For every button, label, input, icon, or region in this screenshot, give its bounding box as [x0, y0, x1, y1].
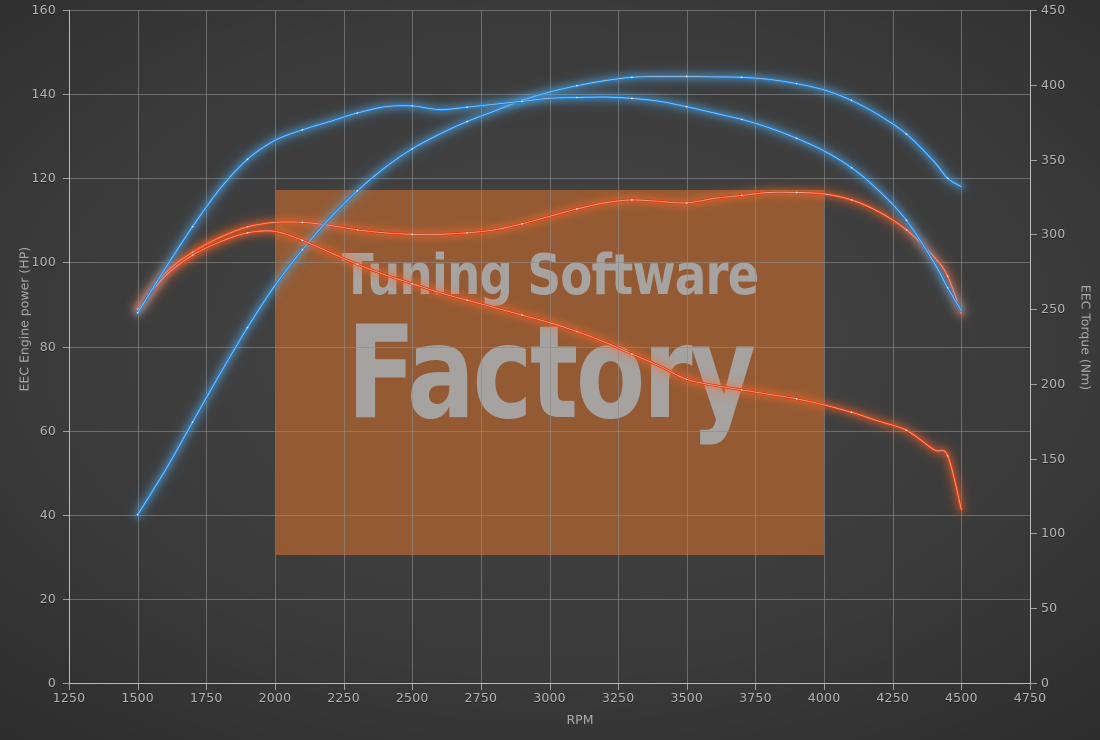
data-point-marker: [466, 121, 468, 123]
data-point-marker: [521, 223, 523, 225]
data-point-marker: [576, 97, 578, 99]
curve-glow-inner-tuned-torque-nm: [138, 192, 962, 313]
data-point-marker: [796, 398, 798, 400]
data-point-marker: [741, 118, 743, 120]
data-point-marker: [137, 312, 139, 314]
data-point-marker: [411, 105, 413, 107]
data-point-marker: [741, 76, 743, 78]
data-point-marker: [686, 202, 688, 204]
dyno-chart-page: Tuning Software Factory 0204060801001201…: [0, 0, 1100, 740]
data-point-marker: [301, 239, 303, 241]
data-point-marker: [796, 137, 798, 139]
curve-highlight-stock-power-hp: [138, 97, 962, 313]
data-point-marker: [741, 195, 743, 197]
curve-tuned-torque-nm: [138, 192, 962, 313]
data-point-marker: [192, 421, 194, 423]
curve-highlight-stock-torque-nm: [138, 231, 962, 510]
curve-layer: [0, 0, 1100, 740]
data-point-marker: [411, 283, 413, 285]
data-point-marker: [851, 100, 853, 102]
data-point-marker: [466, 232, 468, 234]
curve-glow-inner-stock-power-hp: [138, 97, 962, 313]
data-point-marker: [521, 100, 523, 102]
data-point-marker: [411, 148, 413, 150]
data-point-marker: [631, 353, 633, 355]
data-point-marker: [356, 190, 358, 192]
data-point-marker: [796, 192, 798, 194]
data-point-marker: [631, 199, 633, 201]
data-point-marker: [851, 167, 853, 169]
data-point-marker: [631, 97, 633, 99]
data-point-marker: [466, 299, 468, 301]
data-point-marker: [137, 514, 139, 516]
data-point-marker: [356, 229, 358, 231]
data-point-marker: [356, 263, 358, 265]
data-point-marker: [247, 327, 249, 329]
curve-glow-outer-tuned-torque-nm: [138, 192, 962, 313]
data-point-marker: [411, 233, 413, 235]
data-point-marker: [947, 177, 949, 179]
curve-glow-outer-stock-torque-nm: [138, 231, 962, 510]
data-point-marker: [947, 287, 949, 289]
data-point-marker: [301, 129, 303, 131]
data-point-marker: [851, 411, 853, 413]
curve-glow-outer-stock-power-hp: [138, 97, 962, 313]
data-point-marker: [247, 158, 249, 160]
data-point-marker: [356, 112, 358, 114]
data-point-marker: [906, 219, 908, 221]
data-point-marker: [576, 331, 578, 333]
data-point-marker: [686, 379, 688, 381]
data-point-marker: [741, 389, 743, 391]
data-point-marker: [247, 232, 249, 234]
curve-stock-torque-nm: [138, 231, 962, 510]
data-point-marker: [686, 106, 688, 108]
data-point-marker: [947, 455, 949, 457]
data-point-marker: [301, 221, 303, 223]
data-point-marker: [576, 208, 578, 210]
data-point-marker: [192, 226, 194, 228]
curve-glow-inner-stock-torque-nm: [138, 231, 962, 510]
data-point-marker: [192, 254, 194, 256]
data-point-marker: [796, 83, 798, 85]
data-point-marker: [521, 314, 523, 316]
data-point-marker: [301, 249, 303, 251]
data-point-marker: [466, 106, 468, 108]
data-point-marker: [906, 133, 908, 135]
curve-highlight-tuned-torque-nm: [138, 192, 962, 313]
data-point-marker: [851, 199, 853, 201]
data-point-marker: [686, 76, 688, 78]
data-point-marker: [906, 429, 908, 431]
data-point-marker: [576, 85, 578, 87]
data-point-marker: [631, 76, 633, 78]
curve-stock-power-hp: [138, 97, 962, 313]
